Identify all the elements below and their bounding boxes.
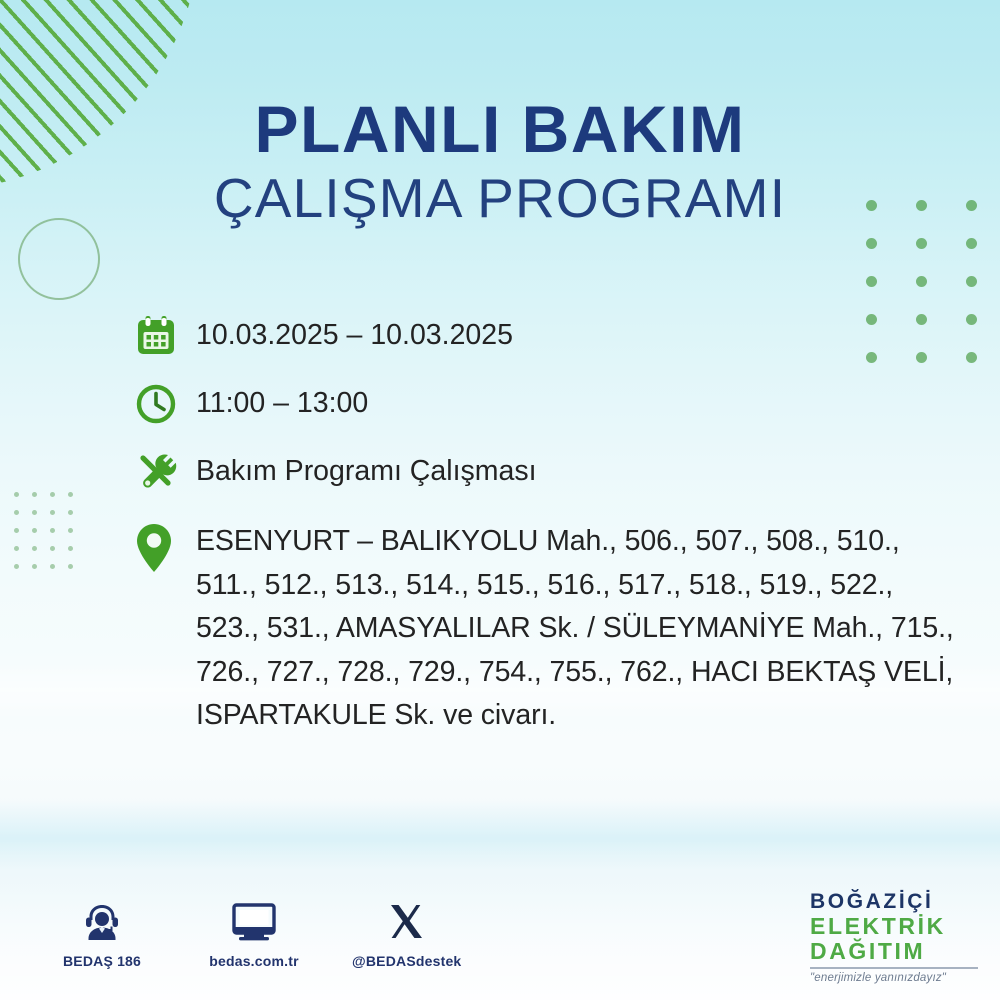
dot [32,510,37,515]
contact-x-label: @BEDASdestek [352,953,460,969]
dot [966,352,977,363]
dot [68,492,73,497]
dot [14,492,19,497]
tools-icon [134,448,196,496]
support-agent-icon [48,898,156,946]
dot [966,276,977,287]
contact-phone[interactable]: BEDAŞ 186 [48,898,156,969]
dot [916,238,927,249]
dot [50,564,55,569]
brand-line-elektrik: ELEKTRİK [810,914,982,939]
info-row-work-type: Bakım Programı Çalışması [134,448,964,496]
dot [68,528,73,533]
dot [50,528,55,533]
title-line-primary: PLANLI BAKIM [0,96,1000,163]
map-pin-icon [134,516,196,574]
dot [866,238,877,249]
dot [68,510,73,515]
dot [966,238,977,249]
dot [14,564,19,569]
brand-tagline: "enerjimizle yanınızdayız" [810,972,982,984]
dot [866,276,877,287]
dot [32,492,37,497]
brand-divider [810,967,978,969]
dot [50,492,55,497]
poster-footer: BEDAŞ 186 bedas.com.tr [0,890,1000,1000]
info-row-time: 11:00 – 13:00 [134,380,964,426]
location-value: ESENYURT – BALIKYOLU Mah., 506., 507., 5… [196,516,956,738]
x-twitter-icon [352,898,460,946]
dot [14,546,19,551]
contact-list: BEDAŞ 186 bedas.com.tr [48,898,460,969]
calendar-icon [134,312,196,358]
contact-website-label: bedas.com.tr [200,953,308,969]
circle-outline-decoration [18,218,100,300]
brand-line-bogazici: BOĞAZİÇİ [810,890,982,914]
dot [916,276,927,287]
contact-phone-label: BEDAŞ 186 [48,953,156,969]
poster-title: PLANLI BAKIM ÇALIŞMA PROGRAMI [0,96,1000,229]
info-list: 10.03.2025 – 10.03.2025 11:00 – 13:00 [134,312,964,754]
info-row-location: ESENYURT – BALIKYOLU Mah., 506., 507., 5… [134,516,964,738]
brand-line-dagitim: DAĞITIM [810,939,982,964]
planned-maintenance-poster: PLANLI BAKIM ÇALIŞMA PROGRAMI [0,0,1000,1000]
dot [68,546,73,551]
clock-icon [134,380,196,426]
dot [68,564,73,569]
time-range-value: 11:00 – 13:00 [196,380,368,423]
monitor-icon [200,898,308,946]
contact-x-social[interactable]: @BEDASdestek [352,898,460,969]
work-type-value: Bakım Programı Çalışması [196,448,537,491]
dot [50,546,55,551]
dot [14,528,19,533]
title-line-secondary: ÇALIŞMA PROGRAMI [0,169,1000,228]
contact-website[interactable]: bedas.com.tr [200,898,308,969]
dot [32,564,37,569]
dot [14,510,19,515]
dot [32,528,37,533]
dot [966,314,977,325]
date-range-value: 10.03.2025 – 10.03.2025 [196,312,513,355]
dot [50,510,55,515]
info-row-date: 10.03.2025 – 10.03.2025 [134,312,964,358]
dot [32,546,37,551]
dot-grid-left-decoration [14,492,86,582]
background-band-middle [0,800,1000,870]
bedas-logo: BOĞAZİÇİ ELEKTRİK DAĞITIM "enerjimizle y… [810,890,982,984]
